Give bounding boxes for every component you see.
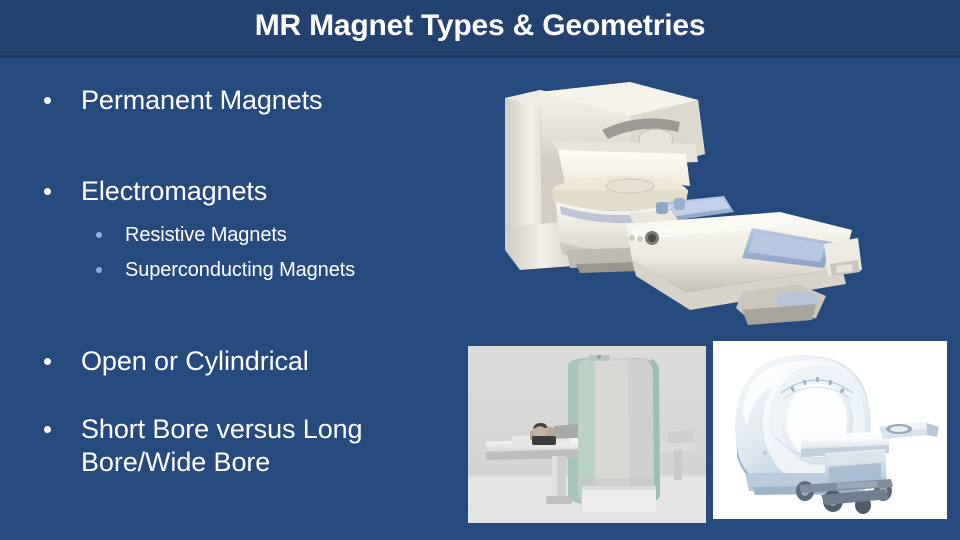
bullet-item-permanent-magnets: Permanent Magnets bbox=[44, 84, 464, 117]
image-short-bore-mri-scanner bbox=[468, 346, 706, 523]
bullet-item-open-or-cylindrical: Open or Cylindrical bbox=[44, 345, 464, 378]
bullet-list: Permanent Magnets Electromagnets Resisti… bbox=[0, 58, 470, 540]
bullet-label: Permanent Magnets bbox=[81, 84, 322, 117]
title-band: MR Magnet Types & Geometries bbox=[0, 0, 960, 55]
bullet-marker-icon bbox=[44, 188, 51, 195]
page-title: MR Magnet Types & Geometries bbox=[0, 0, 960, 52]
image-open-mri-scanner bbox=[480, 78, 910, 338]
bullet-label: Resistive Magnets bbox=[125, 222, 287, 248]
bullet-label: Short Bore versus Long Bore/Wide Bore bbox=[81, 413, 444, 479]
image-wide-bore-mri-scanner bbox=[713, 341, 947, 519]
bullet-label: Electromagnets bbox=[81, 175, 267, 208]
bullet-label: Superconducting Magnets bbox=[125, 257, 355, 283]
bullet-item-superconducting-magnets: Superconducting Magnets bbox=[96, 257, 466, 283]
bullet-item-electromagnets: Electromagnets bbox=[44, 175, 464, 208]
bullet-marker-icon bbox=[44, 358, 51, 365]
sub-bullet-marker-icon bbox=[96, 267, 102, 273]
bullet-label: Open or Cylindrical bbox=[81, 345, 309, 378]
bullet-item-resistive-magnets: Resistive Magnets bbox=[96, 222, 466, 248]
bullet-item-short-bore-versus-long-bore: Short Bore versus Long Bore/Wide Bore bbox=[44, 413, 444, 479]
slide: MR Magnet Types & Geometries Permanent M… bbox=[0, 0, 960, 540]
bullet-marker-icon bbox=[44, 97, 51, 104]
bullet-marker-icon bbox=[44, 426, 51, 433]
sub-bullet-marker-icon bbox=[96, 232, 102, 238]
